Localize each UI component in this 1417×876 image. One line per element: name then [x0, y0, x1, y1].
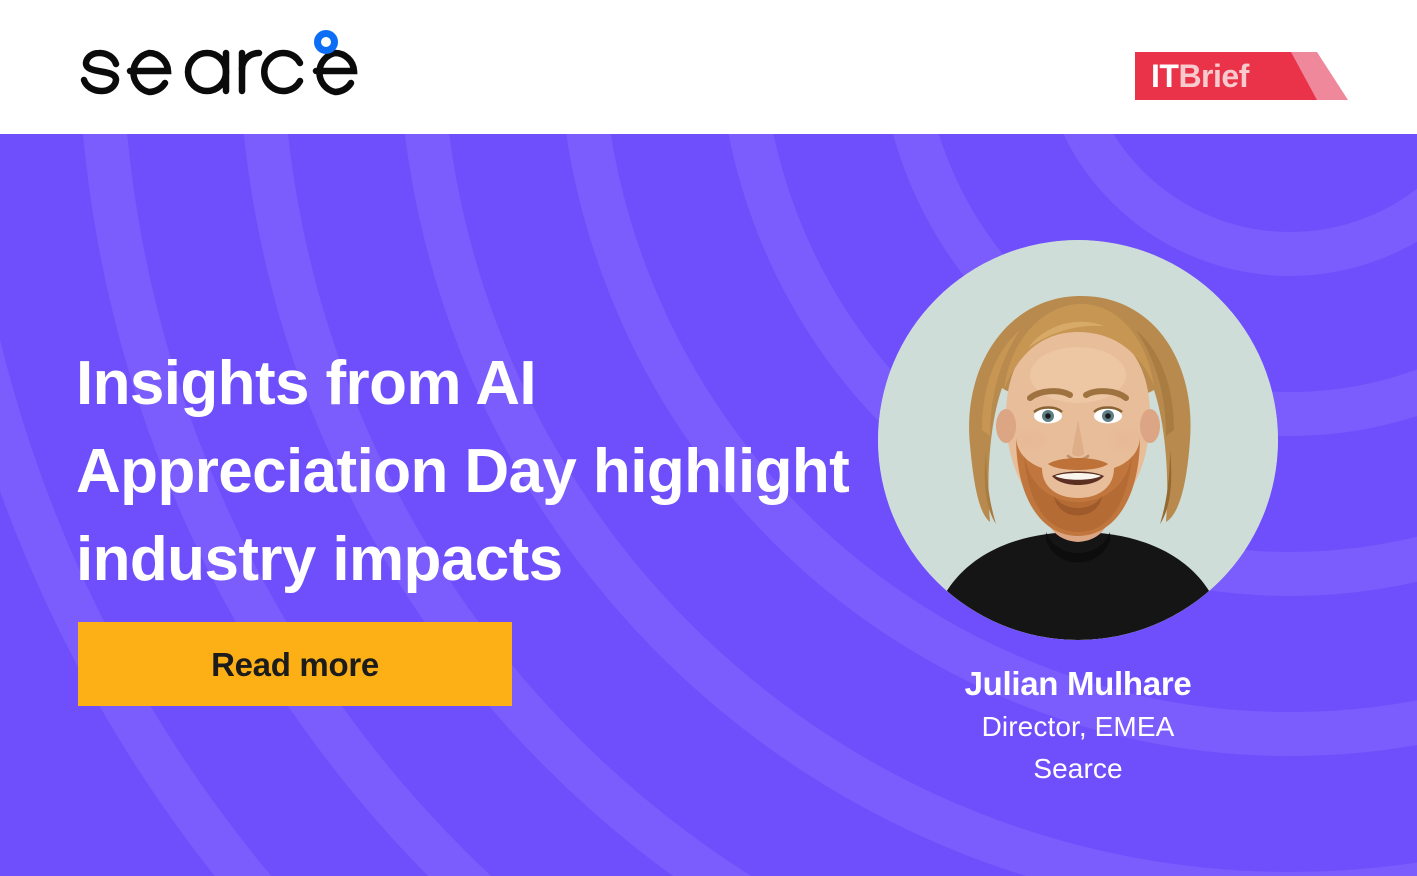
speaker-organization: Searce [828, 748, 1328, 790]
headline-line-3: industry impacts [76, 516, 876, 604]
itbrief-wordmark: ITBrief [1151, 52, 1249, 100]
itbrief-wordmark-brief: Brief [1178, 60, 1248, 92]
promotional-banner: ITBrief [0, 0, 1417, 876]
itbrief-wordmark-it: IT [1151, 60, 1178, 92]
headline-line-1: Insights from AI [76, 340, 876, 428]
banner-header: ITBrief [0, 0, 1417, 134]
speaker-avatar [878, 240, 1278, 640]
read-more-button-label: Read more [211, 648, 379, 681]
banner-body: Insights from AI Appreciation Day highli… [0, 134, 1417, 876]
searce-logo[interactable] [70, 24, 360, 110]
headline-line-2: Appreciation Day highlight [76, 428, 876, 516]
searce-accent-dot-icon [318, 34, 335, 51]
speaker-info: Julian Mulhare Director, EMEA Searce [828, 662, 1328, 790]
speaker-name: Julian Mulhare [828, 662, 1328, 706]
headline: Insights from AI Appreciation Day highli… [76, 340, 876, 604]
read-more-button[interactable]: Read more [78, 622, 512, 706]
speaker-role: Director, EMEA [828, 706, 1328, 748]
